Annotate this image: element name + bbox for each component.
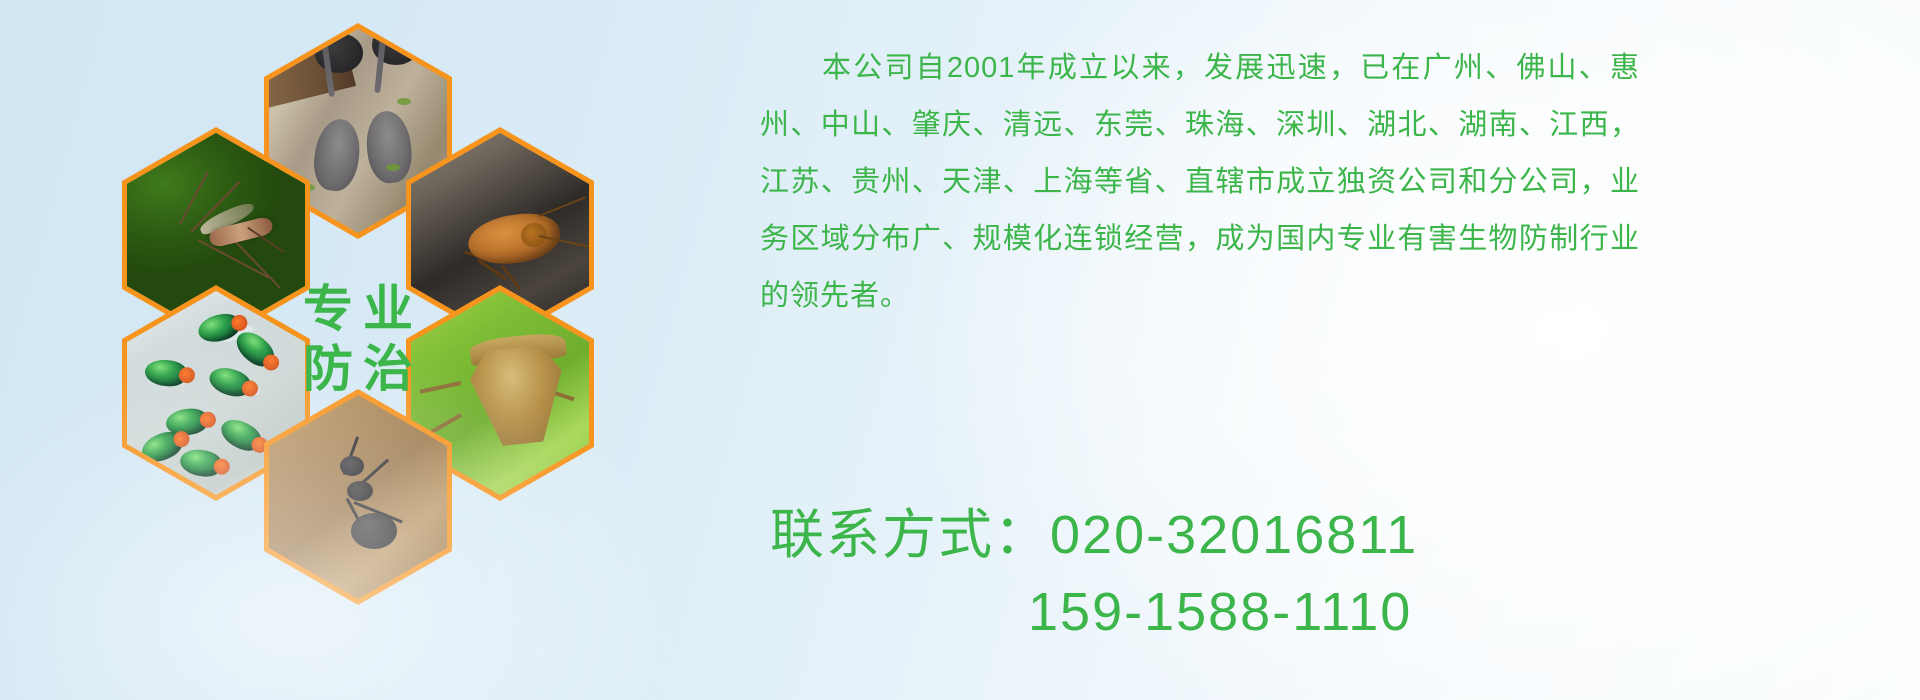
badge-professional-pest-control: 专业 防治: [264, 231, 452, 447]
pest-control-banner: 专业 防治 本公司自2001年成立以来，发展迅速，已在广州、佛山、惠州、中山、肇…: [0, 0, 1920, 700]
company-intro-paragraph: 本公司自2001年成立以来，发展迅速，已在广州、佛山、惠州、中山、肇庆、清远、东…: [760, 40, 1640, 325]
contact-line-primary[interactable]: 联系方式：020-32016811: [770, 490, 1670, 569]
contact-line-secondary[interactable]: 159-1588-1110: [770, 581, 1670, 643]
badge-line-2: 防治: [293, 343, 423, 396]
contact-block: 联系方式：020-32016811 159-1588-1110: [770, 490, 1670, 643]
hexagon-photo-cluster: 专业 防治: [95, 10, 595, 570]
company-intro: 本公司自2001年成立以来，发展迅速，已在广州、佛山、惠州、中山、肇庆、清远、东…: [760, 40, 1640, 325]
badge-line-1: 专业: [293, 283, 423, 336]
